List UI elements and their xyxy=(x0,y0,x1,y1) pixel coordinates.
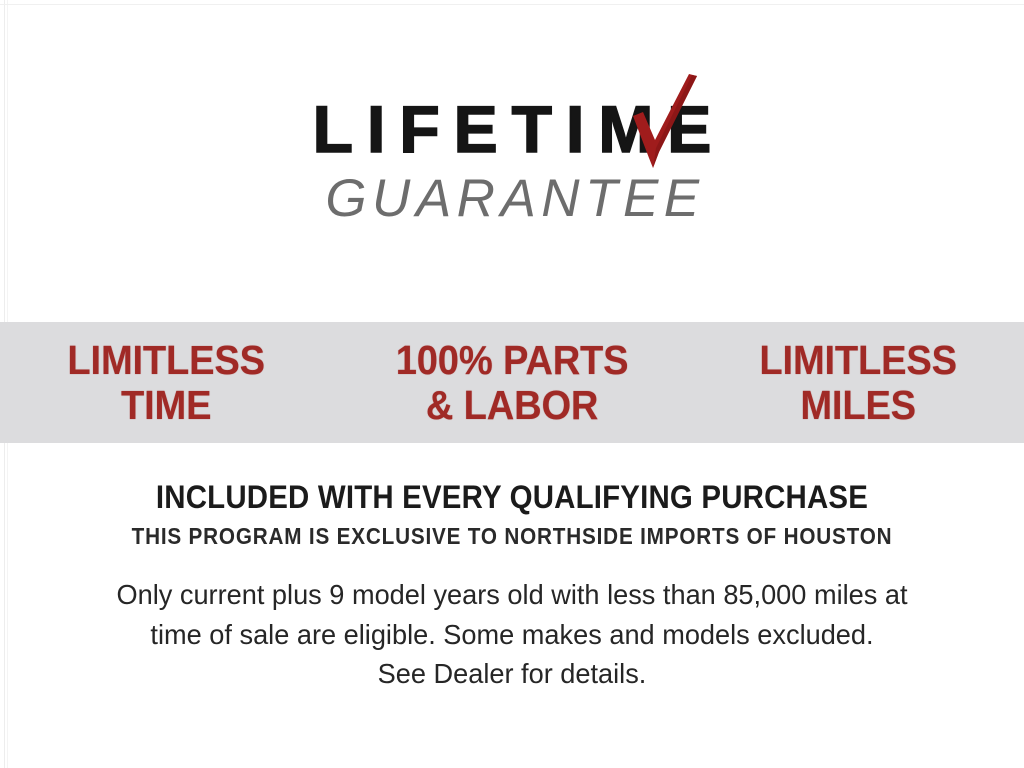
fineprint-line: Only current plus 9 model years old with… xyxy=(15,575,1008,615)
feature-column-limitless-time: LIMITLESS TIME xyxy=(67,338,264,427)
subheadline-exclusive-dealer: THIS PROGRAM IS EXCLUSIVE TO NORTHSIDE I… xyxy=(51,524,973,549)
feature-line-2: TIME xyxy=(67,383,264,427)
logo-word-guarantee: GUARANTEE xyxy=(299,172,726,225)
feature-line-2: MILES xyxy=(759,383,956,427)
logo-word-lifetime: LIFETIME xyxy=(299,96,726,162)
fineprint-line: See Dealer for details. xyxy=(15,654,1008,694)
feature-line-1: 100% PARTS xyxy=(396,338,629,382)
feature-line-2: & LABOR xyxy=(396,383,629,427)
feature-band-columns: LIMITLESS TIME 100% PARTS & LABOR LIMITL… xyxy=(0,338,1024,427)
feature-band: LIMITLESS TIME 100% PARTS & LABOR LIMITL… xyxy=(0,322,1024,443)
feature-line-1: LIMITLESS xyxy=(67,338,264,382)
logo-lockup: LIFETIME GUARANTEE xyxy=(299,96,726,225)
feature-column-limitless-miles: LIMITLESS MILES xyxy=(759,338,956,427)
lower-copy-block: INCLUDED WITH EVERY QUALIFYING PURCHASE … xyxy=(0,481,1024,694)
lifetime-guarantee-advertisement: LIFETIME GUARANTEE LIMITLESS TIME 100% P… xyxy=(0,0,1024,768)
feature-column-parts-labor: 100% PARTS & LABOR xyxy=(396,338,629,427)
feature-line-1: LIMITLESS xyxy=(759,338,956,382)
scan-edge-line-top xyxy=(0,4,1024,5)
headline-included-with-purchase: INCLUDED WITH EVERY QUALIFYING PURCHASE xyxy=(41,481,983,515)
logo-block: LIFETIME GUARANTEE xyxy=(0,96,1024,225)
fineprint-line: time of sale are eligible. Some makes an… xyxy=(15,615,1008,655)
fineprint-disclaimer: Only current plus 9 model years old with… xyxy=(0,575,1024,694)
